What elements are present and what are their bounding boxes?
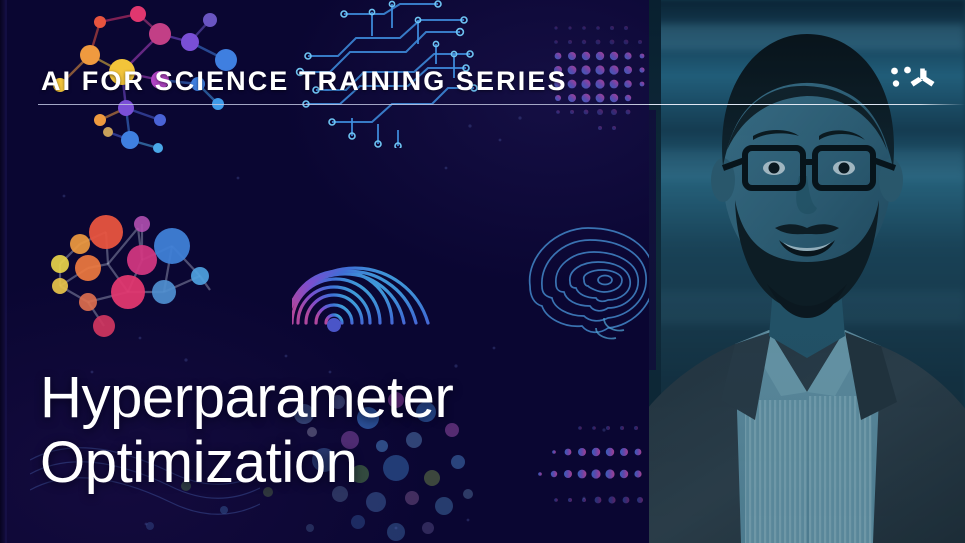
presentation-slide: AI FOR SCIENCE TRAINING SERIES Hyperpara… <box>0 0 965 543</box>
header-divider-rule <box>38 104 922 105</box>
slide-title-line-1: Hyperparameter <box>40 365 453 430</box>
series-label: AI FOR SCIENCE TRAINING SERIES <box>41 66 568 97</box>
slide-title-line-2: Optimization <box>40 431 453 496</box>
slide-title: Hyperparameter Optimization <box>40 366 453 496</box>
argonne-national-laboratory-logo <box>889 64 937 98</box>
